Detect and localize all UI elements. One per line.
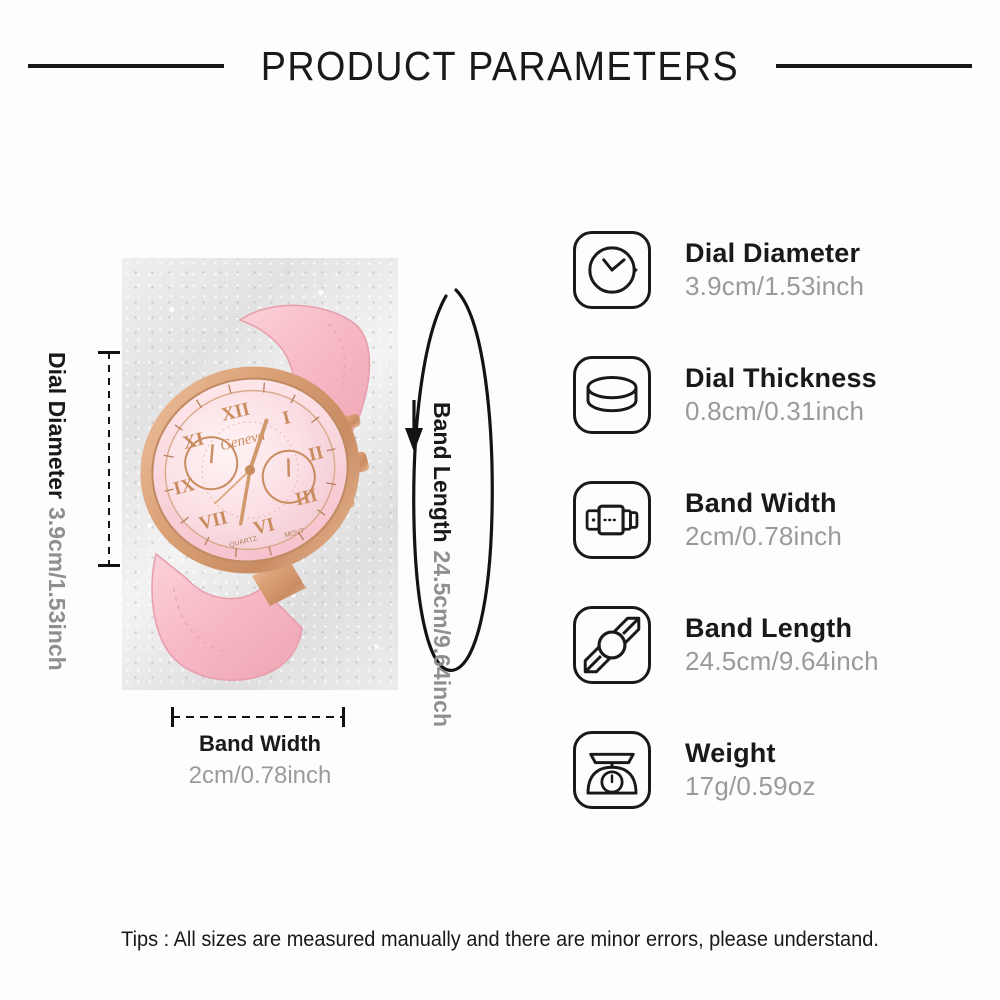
spec-row-dial-diameter: Dial Diameter 3.9cm/1.53inch <box>573 222 993 318</box>
band-length-callout: Band Length24.5cm/9.64inch <box>428 402 455 727</box>
dial-diameter-callout-label: Dial Diameter <box>43 352 70 499</box>
watch-strap-icon <box>573 481 651 559</box>
band-width-callout: Band Width 2cm/0.78inch <box>122 728 398 792</box>
spec-value: 3.9cm/1.53inch <box>685 270 864 304</box>
spec-row-band-length: Band Length 24.5cm/9.64inch <box>573 597 993 693</box>
kitchen-scale-icon <box>573 731 651 809</box>
spec-label: Dial Diameter <box>685 237 864 270</box>
spec-row-band-width: Band Width 2cm/0.78inch <box>573 472 993 568</box>
spec-label: Weight <box>685 737 816 770</box>
dial-diameter-callout-value: 3.9cm/1.53inch <box>43 507 70 671</box>
clock-icon <box>573 231 651 309</box>
spec-text: Band Width 2cm/0.78inch <box>685 487 842 554</box>
spec-text: Dial Diameter 3.9cm/1.53inch <box>685 237 864 304</box>
band-length-callout-value: 24.5cm/9.64inch <box>429 551 455 727</box>
spec-value: 24.5cm/9.64inch <box>685 645 879 679</box>
spec-text: Dial Thickness 0.8cm/0.31inch <box>685 362 877 429</box>
band-length-callout-label: Band Length <box>429 402 455 543</box>
header-rule-left <box>28 64 224 68</box>
spec-label: Band Width <box>685 487 842 520</box>
spec-text: Weight 17g/0.59oz <box>685 737 816 804</box>
spec-value: 17g/0.59oz <box>685 770 816 804</box>
page-header: PRODUCT PARAMETERS <box>0 38 1000 94</box>
product-photo: XII I II III VI VII IX XI Geneva QUARTZ … <box>122 258 398 690</box>
dimension-cap-bottom <box>98 564 120 567</box>
band-width-dimension-line <box>172 716 344 718</box>
spec-label: Band Length <box>685 612 879 645</box>
page-title: PRODUCT PARAMETERS <box>261 43 739 90</box>
watch-illustration: XII I II III VI VII IX XI Geneva QUARTZ … <box>122 258 398 690</box>
cylinder-icon <box>573 356 651 434</box>
dial-diameter-callout: Dial Diameter3.9cm/1.53inch <box>43 352 70 671</box>
dimension-cap-left <box>171 707 174 727</box>
spec-value: 0.8cm/0.31inch <box>685 395 877 429</box>
spec-row-dial-thickness: Dial Thickness 0.8cm/0.31inch <box>573 347 993 443</box>
header-rule-right <box>776 64 972 68</box>
product-parameters-page: PRODUCT PARAMETERS <box>0 0 1000 1000</box>
band-width-callout-label: Band Width <box>122 728 398 760</box>
spec-value: 2cm/0.78inch <box>685 520 842 554</box>
tips-text: Tips : All sizes are measured manually a… <box>25 928 975 952</box>
spec-row-weight: Weight 17g/0.59oz <box>573 722 993 818</box>
spec-list: Dial Diameter 3.9cm/1.53inch Dial Thickn… <box>573 222 993 818</box>
band-width-callout-value: 2cm/0.78inch <box>122 760 398 792</box>
watch-band-icon <box>573 606 651 684</box>
dimension-cap-right <box>342 707 345 727</box>
dial-diameter-dimension-line <box>108 352 110 566</box>
dimension-cap-top <box>98 351 120 354</box>
spec-label: Dial Thickness <box>685 362 877 395</box>
spec-text: Band Length 24.5cm/9.64inch <box>685 612 879 679</box>
